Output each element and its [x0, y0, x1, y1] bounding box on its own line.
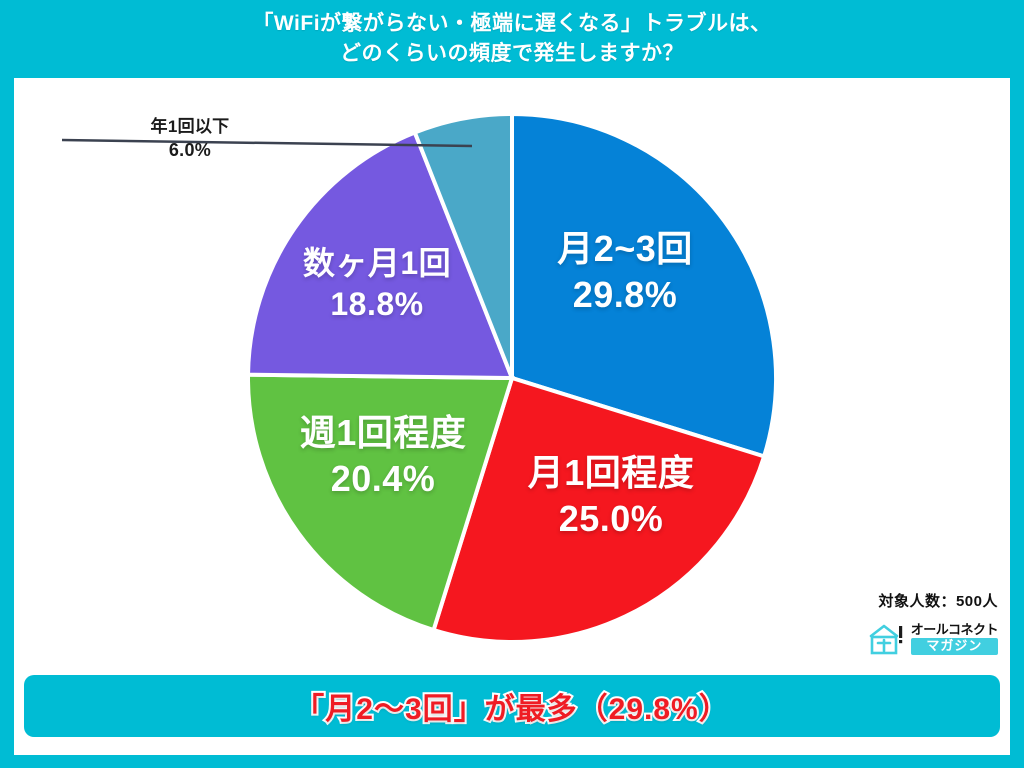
brand-logo: オールコネクト マガジン: [867, 622, 998, 656]
summary-banner: 「月2〜3回」が最多（29.8%）: [24, 675, 1000, 737]
summary-banner-text: 「月2〜3回」が最多（29.8%）: [294, 684, 729, 728]
house-logo-icon: [867, 622, 905, 656]
pie-chart-svg: [246, 112, 778, 644]
callout-leader-line: [60, 130, 490, 160]
logo-text: オールコネクト マガジン: [911, 623, 998, 656]
pie-chart: [246, 112, 778, 644]
logo-sub-name: マガジン: [911, 638, 998, 656]
header-title-line-2: どのくらいの頻度で発生しますか？: [340, 40, 684, 68]
header-title-line-1: 「WiFiが繋がらない・極端に遅くなる」トラブルは、: [252, 10, 771, 38]
infographic-root: 「WiFiが繋がらない・極端に遅くなる」トラブルは、 どのくらいの頻度で発生しま…: [0, 0, 1024, 768]
header: 「WiFiが繋がらない・極端に遅くなる」トラブルは、 どのくらいの頻度で発生しま…: [0, 0, 1024, 78]
sample-size-label: 対象人数：500人: [878, 590, 998, 611]
logo-brand-name: オールコネクト: [911, 623, 998, 636]
